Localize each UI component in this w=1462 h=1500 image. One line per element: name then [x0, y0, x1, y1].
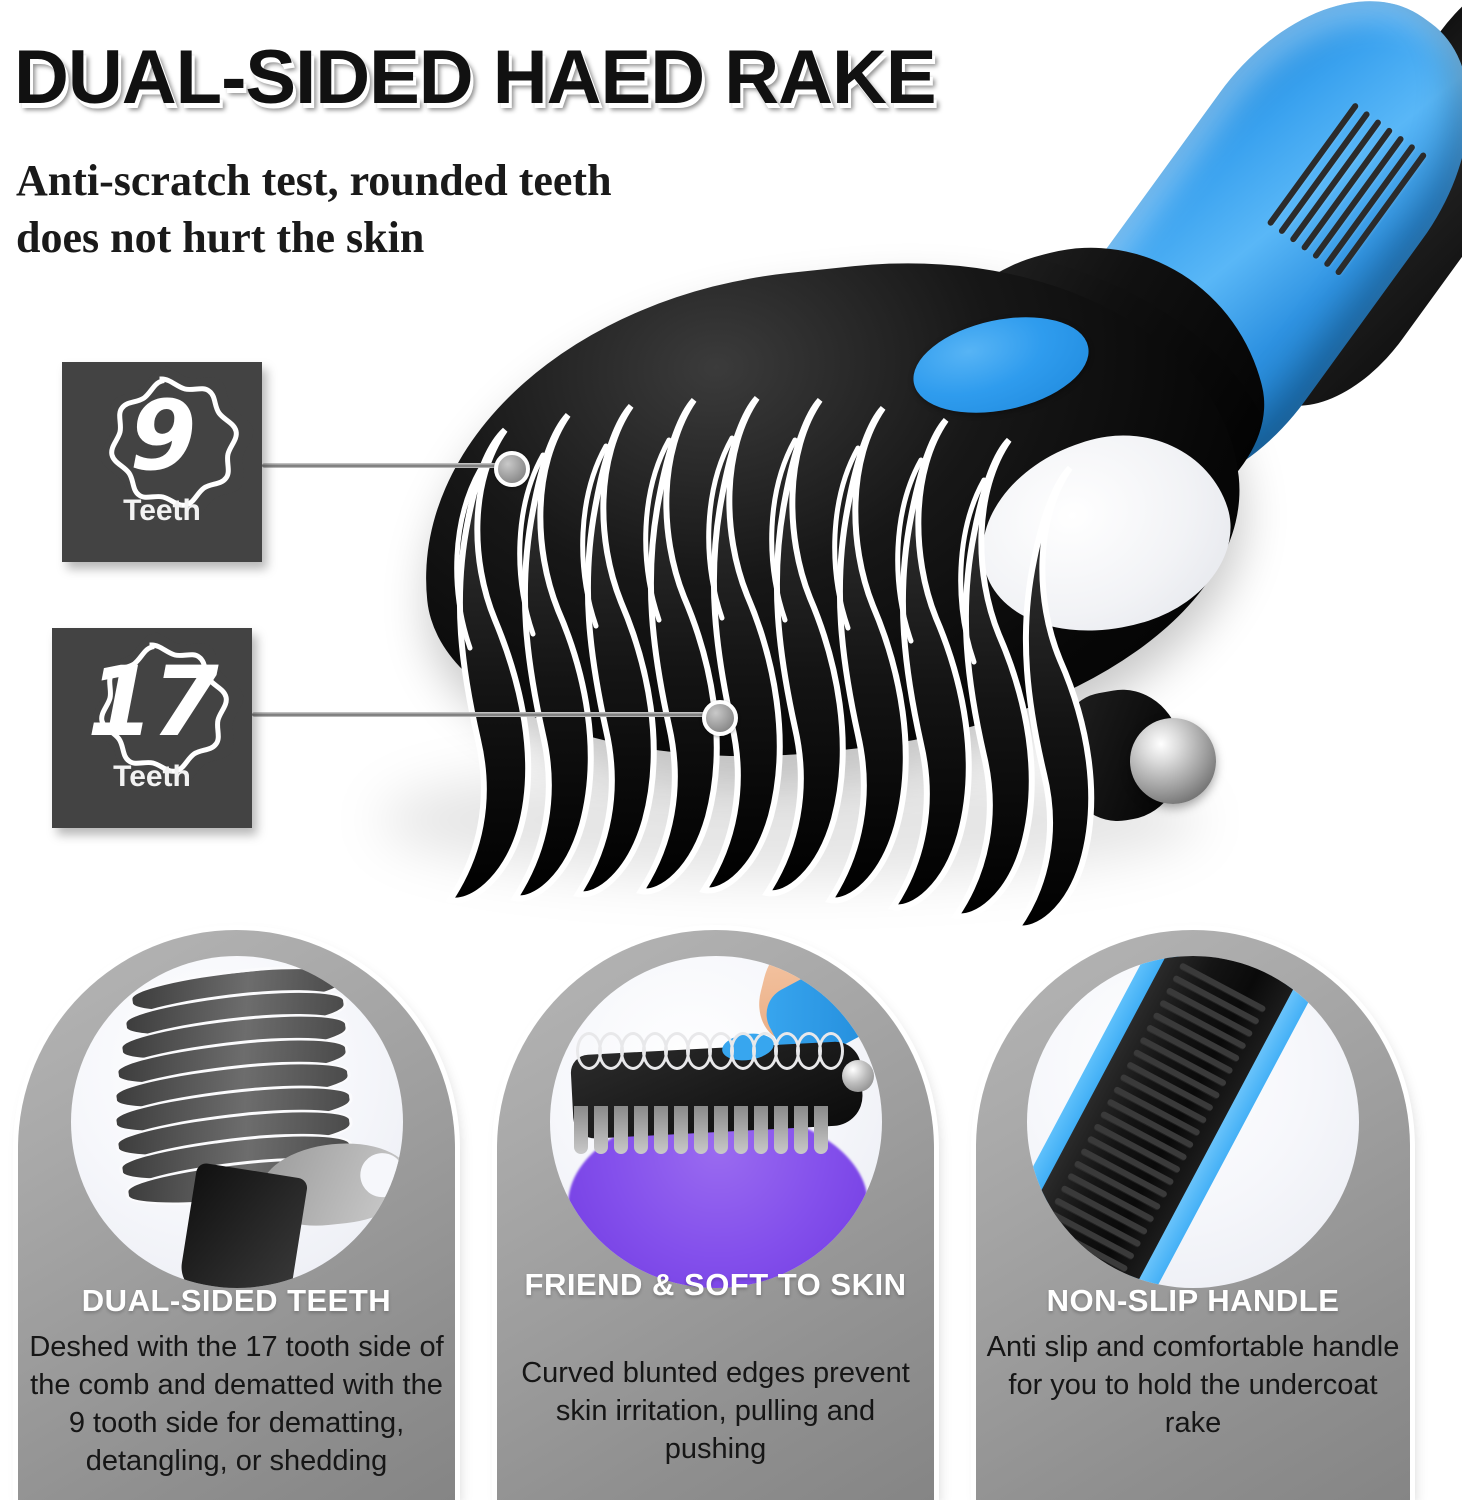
metal-screw-knob: [842, 1060, 874, 1092]
panel-photo-circle: [550, 956, 882, 1288]
badge-number: 17: [52, 654, 252, 750]
product-hero-image: 9 Teeth 17 Teeth: [0, 0, 1462, 930]
panel-body: Curved blunted edges prevent skin irrita…: [505, 1354, 926, 1468]
comb-handle-illustration: [177, 1162, 308, 1288]
badge-17-teeth: 17 Teeth: [52, 628, 252, 828]
subtitle-line-2: does not hurt the skin: [16, 209, 776, 266]
rake-tines: [574, 1106, 844, 1158]
feature-panels: DUAL-SIDED TEETH Deshed with the 17 toot…: [0, 930, 1462, 1500]
panel-photo-circle: [71, 956, 403, 1288]
badge-9-teeth: 9 Teeth: [62, 362, 262, 562]
panel-title: FRIEND & SOFT TO SKIN: [507, 1266, 924, 1304]
badge-label: Teeth: [52, 760, 252, 794]
metal-screw-knob: [1130, 718, 1216, 804]
product-infographic: 9 Teeth 17 Teeth DUAL-SIDED HAED RAKE An…: [0, 0, 1462, 1500]
callout-dot-icon-9: [494, 451, 530, 487]
feature-panel-non-slip-handle: NON-SLIP HANDLE Anti slip and comfortabl…: [976, 930, 1410, 1500]
callout-dot-icon-17: [702, 700, 738, 736]
panel-body: Anti slip and comfortable handle for you…: [984, 1328, 1402, 1442]
panel-body: Deshed with the 17 tooth side of the com…: [26, 1328, 447, 1480]
badge-label: Teeth: [62, 494, 262, 528]
rake-loop-teeth: [576, 1032, 846, 1068]
panel-title: DUAL-SIDED TEETH: [28, 1282, 445, 1320]
feature-panel-dual-sided-teeth: DUAL-SIDED TEETH Deshed with the 17 toot…: [18, 930, 455, 1500]
page-subtitle: Anti-scratch test, rounded teeth does no…: [16, 152, 776, 266]
page-title: DUAL-SIDED HAED RAKE: [14, 40, 1074, 116]
leader-line-9-teeth: [262, 463, 512, 468]
leader-line-17-teeth: [252, 712, 722, 717]
subtitle-line-1: Anti-scratch test, rounded teeth: [16, 156, 612, 205]
badge-number: 9: [62, 388, 262, 484]
feature-panel-friend-soft-to-skin: FRIEND & SOFT TO SKIN Curved blunted edg…: [497, 930, 934, 1500]
panel-photo-circle: [1027, 956, 1359, 1288]
panel-title: NON-SLIP HANDLE: [986, 1282, 1400, 1320]
